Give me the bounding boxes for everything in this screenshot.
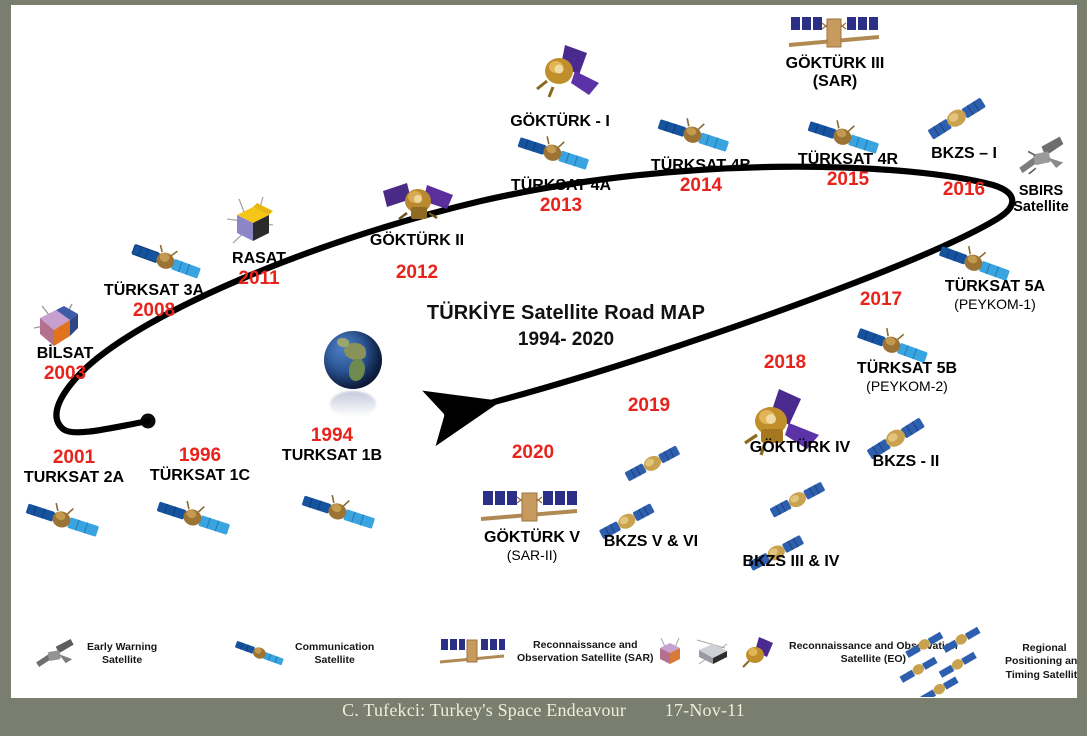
legend-line1: Communication	[295, 641, 374, 654]
sbirs-satellite-icon	[1014, 137, 1068, 181]
legend-line3: Timing Satellite	[1005, 669, 1077, 682]
gokturk-5-name: GÖKTÜRK V	[469, 529, 595, 547]
turksat-3a-satellite-icon	[129, 240, 203, 284]
label-year-2018: 2018	[755, 352, 815, 374]
legend-text-early-warning: Early Warning Satellite	[87, 641, 157, 668]
turksat-5b-name: TÜRKSAT 5B	[837, 360, 977, 378]
label-bkzs-5-6: BKZS V & VI	[581, 533, 721, 551]
bilsat-year: 2003	[15, 363, 115, 385]
communication-satellite-icon	[233, 639, 285, 669]
map-title-line1: TÜRKİYE Satellite Road MAP	[426, 302, 706, 325]
legend-item-regional-positioning: Regional Positioning and Timing Satellit…	[899, 627, 1077, 697]
legend-line1: Early Warning	[87, 641, 157, 654]
label-rasat: RASAT 2011	[214, 250, 304, 290]
turksat-4a-satellite-icon	[515, 131, 591, 177]
label-year-2020: 2020	[503, 442, 563, 464]
turksat-4a-year: 2013	[496, 195, 626, 217]
label-year-2019: 2019	[619, 395, 679, 417]
legend-line2: Satellite	[295, 654, 374, 667]
turksat-1c-year: 1996	[137, 445, 263, 467]
gokturk-2-name: GÖKTÜRK II	[351, 232, 483, 250]
slide-canvas: TÜRKİYE Satellite Road MAP 1994- 2020	[11, 5, 1077, 698]
gokturk-3-name: GÖKTÜRK III	[765, 55, 905, 73]
gokturk-5-sub: (SAR-II)	[469, 547, 595, 563]
gokturk-4-name: GÖKTÜRK IV	[735, 439, 865, 457]
legend-line1: Regional	[1005, 642, 1077, 655]
label-bkzs-2: BKZS - II	[851, 453, 961, 471]
turksat-3a-year: 2008	[89, 300, 219, 322]
gokturk-2-year: 2012	[351, 262, 483, 284]
rasat-year: 2011	[214, 268, 304, 290]
turksat-4r-name: TÜRKSAT 4R	[783, 151, 913, 169]
gokturk-5-sar2-satellite-icon	[477, 485, 581, 529]
gokturk-3-sar-satellite-icon	[785, 13, 883, 55]
bilsat-name: BİLSAT	[15, 345, 115, 363]
eo-flat-satellite-icon	[691, 636, 735, 670]
label-gokturk-1: GÖKTÜRK - I	[495, 113, 625, 131]
legend-text-regional-positioning: Regional Positioning and Timing Satellit…	[1005, 642, 1077, 682]
legend-item-sar: Reconnaissance and Observation Satellite…	[437, 635, 654, 669]
bkzs-2-name: BKZS - II	[851, 453, 961, 471]
year-2019: 2019	[619, 395, 679, 417]
gokturk-1-name: GÖKTÜRK - I	[495, 113, 625, 131]
legend-item-early-warning: Early Warning Satellite	[33, 639, 157, 669]
label-turksat-1b: 1994 TURKSAT 1B	[269, 425, 395, 465]
year-2017: 2017	[851, 289, 911, 311]
legend-text-sar: Reconnaissance and Observation Satellite…	[517, 639, 654, 666]
slide-footer: C. Tufekci: Turkey's Space Endeavour 17-…	[0, 700, 1087, 736]
turksat-2a-satellite-icon	[23, 499, 103, 543]
page-title: TÜRKİYE Satellite Road MAP 1994- 2020	[426, 302, 706, 351]
label-gokturk-2: GÖKTÜRK II 2012	[351, 232, 483, 284]
footer-date: 17-Nov-11	[665, 700, 745, 720]
turksat-4b-satellite-icon	[655, 113, 731, 159]
turksat-4b-year: 2014	[636, 175, 766, 197]
turksat-4b-name: TÜRKSAT 4B	[636, 157, 766, 175]
label-turksat-2a: 2001 TURKSAT 2A	[11, 447, 137, 487]
early-warning-satellite-icon	[33, 639, 77, 669]
constellation-satellites-icon	[899, 627, 995, 697]
label-bkzs-1: BKZS – I 2016	[909, 145, 1019, 201]
bkzs-1-name: BKZS – I	[909, 145, 1019, 163]
label-turksat-3a: TÜRKSAT 3A 2008	[89, 282, 219, 322]
label-bkzs-3-4: BKZS III & IV	[721, 553, 861, 571]
legend-line2: Observation Satellite (SAR)	[517, 652, 654, 665]
turksat-2a-year: 2001	[11, 447, 137, 469]
eo-gold-satellite-icon	[739, 635, 779, 671]
legend: Early Warning Satellite Com	[33, 623, 1073, 698]
map-title-line2: 1994- 2020	[426, 329, 706, 351]
turksat-4r-year: 2015	[783, 169, 913, 191]
label-turksat-4b: TÜRKSAT 4B 2014	[636, 157, 766, 197]
legend-text-communication: Communication Satellite	[295, 641, 374, 668]
gokturk-2-satellite-icon	[381, 173, 455, 233]
turksat-1c-name: TÜRKSAT 1C	[137, 467, 263, 485]
label-gokturk-5: GÖKTÜRK V (SAR-II)	[469, 529, 595, 563]
sbirs-name: SBIRS	[1008, 183, 1074, 199]
label-turksat-4a: TÜRKSAT 4A 2013	[496, 177, 626, 217]
label-turksat-5b: TÜRKSAT 5B (PEYKOM-2)	[837, 360, 977, 394]
turksat-4a-name: TÜRKSAT 4A	[496, 177, 626, 195]
rasat-satellite-icon	[223, 195, 285, 255]
year-2018: 2018	[755, 352, 815, 374]
label-bilsat: BİLSAT 2003	[15, 345, 115, 385]
turksat-1b-name: TURKSAT 1B	[269, 447, 395, 465]
legend-line1: Reconnaissance and	[517, 639, 654, 652]
bkzs-1-year: 2016	[909, 179, 1019, 201]
label-turksat-5a: TÜRKSAT 5A (PEYKOM-1)	[925, 278, 1065, 312]
turksat-5a-sub: (PEYKOM-1)	[925, 296, 1065, 312]
gokturk-1-satellite-icon	[531, 41, 603, 105]
turksat-1b-satellite-icon	[299, 491, 379, 535]
label-turksat-4r: TÜRKSAT 4R 2015	[783, 151, 913, 191]
legend-line2: Satellite	[87, 654, 157, 667]
rasat-name: RASAT	[214, 250, 304, 268]
label-turksat-1c: 1996 TÜRKSAT 1C	[137, 445, 263, 485]
sbirs-sub: Satellite	[1008, 199, 1074, 215]
legend-item-communication: Communication Satellite	[233, 639, 374, 669]
turksat-5b-sub: (PEYKOM-2)	[837, 378, 977, 394]
label-gokturk-3: GÖKTÜRK III (SAR)	[765, 55, 905, 91]
sar-satellite-icon	[437, 635, 507, 669]
earth-globe	[324, 331, 382, 417]
eo-cube-satellite-icon	[653, 636, 687, 670]
label-sbirs: SBIRS Satellite	[1008, 183, 1074, 215]
bkzs-5-6-satellite-icon	[589, 439, 715, 539]
turksat-2a-name: TURKSAT 2A	[11, 469, 137, 487]
turksat-1b-year: 1994	[269, 425, 395, 447]
label-gokturk-4: GÖKTÜRK IV	[735, 439, 865, 457]
turksat-3a-name: TÜRKSAT 3A	[89, 282, 219, 300]
eo-satellites-icon-group	[653, 635, 779, 671]
year-2020: 2020	[503, 442, 563, 464]
bkzs-1-satellite-icon	[924, 91, 990, 147]
turksat-1c-satellite-icon	[154, 497, 234, 541]
bkzs-3-4-name: BKZS III & IV	[721, 553, 861, 571]
turksat-5a-name: TÜRKSAT 5A	[925, 278, 1065, 296]
legend-line2: Positioning and	[1005, 655, 1077, 668]
gokturk-3-sub: (SAR)	[765, 73, 905, 91]
label-year-2017: 2017	[851, 289, 911, 311]
bkzs-5-6-name: BKZS V & VI	[581, 533, 721, 551]
footer-author-title: C. Tufekci: Turkey's Space Endeavour	[342, 700, 626, 720]
